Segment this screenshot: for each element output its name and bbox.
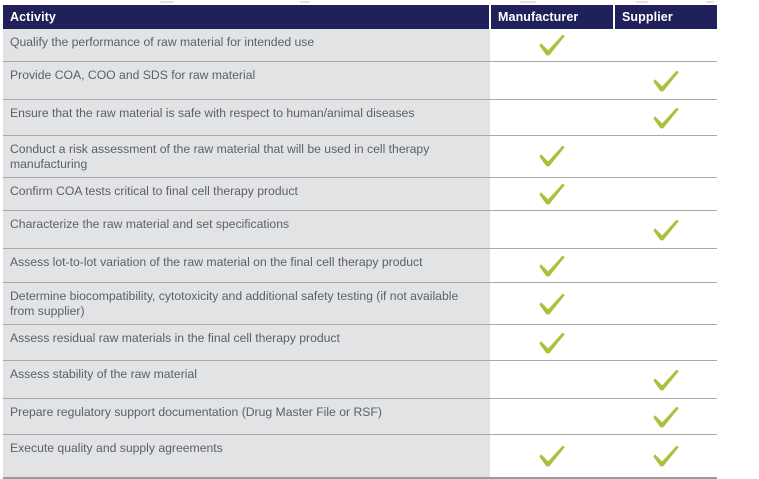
table-row: Execute quality and supply agreements bbox=[3, 435, 717, 479]
supplier-cell bbox=[614, 29, 717, 62]
manufacturer-cell bbox=[490, 249, 614, 283]
column-header-supplier: Supplier bbox=[614, 5, 717, 29]
manufacturer-cell bbox=[490, 435, 614, 479]
table-row: Assess residual raw materials in the fin… bbox=[3, 325, 717, 361]
supplier-cell bbox=[614, 136, 717, 178]
manufacturer-mark-slot bbox=[490, 249, 614, 282]
manufacturer-cell bbox=[490, 136, 614, 178]
activity-cell: Provide COA, COO and SDS for raw materia… bbox=[3, 62, 490, 100]
scan-artifact bbox=[706, 1, 714, 3]
table-row: Assess stability of the raw material bbox=[3, 361, 717, 399]
activity-cell: Assess residual raw materials in the fin… bbox=[3, 325, 490, 361]
supplier-cell bbox=[614, 211, 717, 249]
supplier-mark-slot bbox=[614, 178, 717, 210]
manufacturer-cell bbox=[490, 100, 614, 136]
table-row: Characterize the raw material and set sp… bbox=[3, 211, 717, 249]
scan-artifact bbox=[636, 1, 648, 3]
check-mark-icon bbox=[651, 443, 681, 469]
activity-cell: Determine biocompatibility, cytotoxicity… bbox=[3, 283, 490, 325]
table-row: Prepare regulatory support documentation… bbox=[3, 399, 717, 435]
manufacturer-cell bbox=[490, 361, 614, 399]
column-header-manufacturer: Manufacturer bbox=[490, 5, 614, 29]
check-mark-icon bbox=[651, 367, 681, 393]
scan-artifact bbox=[300, 1, 310, 3]
manufacturer-cell bbox=[490, 325, 614, 361]
check-mark-icon bbox=[537, 253, 567, 279]
manufacturer-mark-slot bbox=[490, 283, 614, 324]
supplier-cell bbox=[614, 100, 717, 136]
check-mark-icon bbox=[537, 443, 567, 469]
supplier-cell bbox=[614, 399, 717, 435]
supplier-mark-slot bbox=[614, 249, 717, 282]
manufacturer-mark-slot bbox=[490, 136, 614, 175]
check-mark-icon bbox=[537, 32, 567, 58]
supplier-mark-slot bbox=[614, 283, 717, 324]
supplier-mark-slot bbox=[614, 211, 717, 248]
check-mark-icon bbox=[651, 404, 681, 430]
table-body: Qualify the performance of raw material … bbox=[3, 29, 717, 478]
supplier-cell bbox=[614, 249, 717, 283]
activity-cell: Assess stability of the raw material bbox=[3, 361, 490, 399]
activity-cell: Characterize the raw material and set sp… bbox=[3, 211, 490, 249]
responsibility-table: Activity Manufacturer Supplier Qualify t… bbox=[3, 5, 717, 479]
supplier-mark-slot bbox=[614, 136, 717, 175]
manufacturer-cell bbox=[490, 29, 614, 62]
check-mark-icon bbox=[651, 68, 681, 94]
manufacturer-mark-slot bbox=[490, 361, 614, 398]
table-header-row: Activity Manufacturer Supplier bbox=[3, 5, 717, 29]
activity-cell: Confirm COA tests critical to final cell… bbox=[3, 178, 490, 211]
supplier-mark-slot bbox=[614, 100, 717, 135]
scan-artifact bbox=[520, 1, 536, 3]
table-row: Provide COA, COO and SDS for raw materia… bbox=[3, 62, 717, 100]
activity-cell: Execute quality and supply agreements bbox=[3, 435, 490, 479]
table-header: Activity Manufacturer Supplier bbox=[3, 5, 717, 29]
manufacturer-cell bbox=[490, 399, 614, 435]
scan-artifact bbox=[160, 1, 174, 3]
supplier-mark-slot bbox=[614, 361, 717, 398]
table-row: Assess lot-to-lot variation of the raw m… bbox=[3, 249, 717, 283]
column-header-activity: Activity bbox=[3, 5, 490, 29]
supplier-cell bbox=[614, 283, 717, 325]
check-mark-icon bbox=[537, 181, 567, 207]
manufacturer-mark-slot bbox=[490, 62, 614, 99]
page-root: Activity Manufacturer Supplier Qualify t… bbox=[0, 0, 759, 476]
table-row: Conduct a risk assessment of the raw mat… bbox=[3, 136, 717, 178]
supplier-mark-slot bbox=[614, 325, 717, 360]
manufacturer-mark-slot bbox=[490, 100, 614, 135]
supplier-cell bbox=[614, 361, 717, 399]
manufacturer-mark-slot bbox=[490, 29, 614, 61]
activity-cell: Ensure that the raw material is safe wit… bbox=[3, 100, 490, 136]
supplier-cell bbox=[614, 62, 717, 100]
manufacturer-mark-slot bbox=[490, 325, 614, 360]
check-mark-icon bbox=[537, 143, 567, 169]
table-row: Confirm COA tests critical to final cell… bbox=[3, 178, 717, 211]
table-row: Determine biocompatibility, cytotoxicity… bbox=[3, 283, 717, 325]
manufacturer-mark-slot bbox=[490, 211, 614, 248]
supplier-mark-slot bbox=[614, 435, 717, 477]
manufacturer-cell bbox=[490, 211, 614, 249]
manufacturer-cell bbox=[490, 178, 614, 211]
check-mark-icon bbox=[651, 105, 681, 131]
manufacturer-cell bbox=[490, 62, 614, 100]
check-mark-icon bbox=[537, 330, 567, 356]
supplier-cell bbox=[614, 178, 717, 211]
activity-cell: Prepare regulatory support documentation… bbox=[3, 399, 490, 435]
check-mark-icon bbox=[537, 291, 567, 317]
supplier-mark-slot bbox=[614, 62, 717, 99]
table-row: Ensure that the raw material is safe wit… bbox=[3, 100, 717, 136]
supplier-cell bbox=[614, 435, 717, 479]
check-mark-icon bbox=[651, 217, 681, 243]
manufacturer-mark-slot bbox=[490, 435, 614, 477]
supplier-cell bbox=[614, 325, 717, 361]
manufacturer-mark-slot bbox=[490, 178, 614, 210]
activity-cell: Qualify the performance of raw material … bbox=[3, 29, 490, 62]
activity-cell: Conduct a risk assessment of the raw mat… bbox=[3, 136, 490, 178]
activity-cell: Assess lot-to-lot variation of the raw m… bbox=[3, 249, 490, 283]
supplier-mark-slot bbox=[614, 399, 717, 434]
manufacturer-mark-slot bbox=[490, 399, 614, 434]
supplier-mark-slot bbox=[614, 29, 717, 61]
table-row: Qualify the performance of raw material … bbox=[3, 29, 717, 62]
manufacturer-cell bbox=[490, 283, 614, 325]
responsibility-table-container: Activity Manufacturer Supplier Qualify t… bbox=[3, 5, 717, 479]
